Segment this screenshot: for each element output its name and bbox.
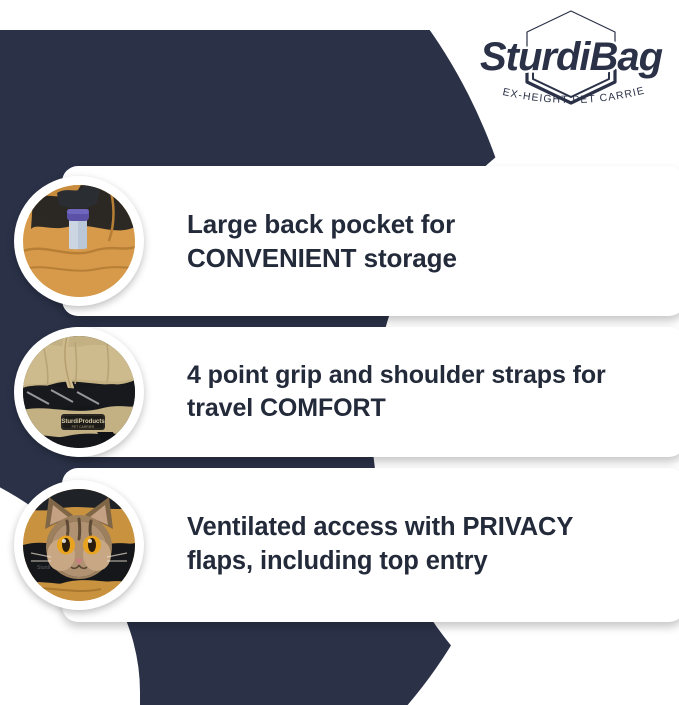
feature-card-ventilated-access: Sturdi Ventilated access with PRIVACY fl… xyxy=(62,468,679,622)
feature-card-back-pocket: Large back pocket for CONVENIENT storage xyxy=(62,166,679,316)
sturdibag-logo: SturdiBag FLEX-HEIGHT PET CARRIER xyxy=(471,8,671,116)
product-feature-graphic: SturdiBag FLEX-HEIGHT PET CARRIER xyxy=(0,0,679,705)
feature-line-2: CONVENIENT storage xyxy=(187,241,457,275)
feature-line-1: 4 point grip and shoulder straps for xyxy=(187,359,606,392)
feature-line-2: travel COMFORT xyxy=(187,392,606,425)
feature-text: 4 point grip and shoulder straps for tra… xyxy=(187,359,606,425)
feature-line-1: Ventilated access with PRIVACY xyxy=(187,511,573,545)
svg-text:PET CARRIER: PET CARRIER xyxy=(72,425,95,429)
feature-card-grip-straps: SturdiProducts PET CARRIER 4 point grip … xyxy=(62,327,679,457)
thumbnail-ring xyxy=(14,176,144,306)
carrier-straps-photo: SturdiProducts PET CARRIER xyxy=(23,336,135,448)
feature-line-1: Large back pocket for xyxy=(187,207,457,241)
bag-back-pocket-photo xyxy=(23,185,135,297)
svg-text:Sturdi: Sturdi xyxy=(37,565,50,571)
feature-text: Ventilated access with PRIVACY flaps, in… xyxy=(187,511,573,578)
logo-wordmark: SturdiBag xyxy=(480,35,663,79)
tabby-cat-photo: Sturdi xyxy=(23,489,135,601)
feature-text: Large back pocket for CONVENIENT storage xyxy=(187,207,457,276)
thumbnail-ring: SturdiProducts PET CARRIER xyxy=(14,327,144,457)
feature-line-2: flaps, including top entry xyxy=(187,545,573,579)
thumbnail-ring: Sturdi xyxy=(14,480,144,610)
